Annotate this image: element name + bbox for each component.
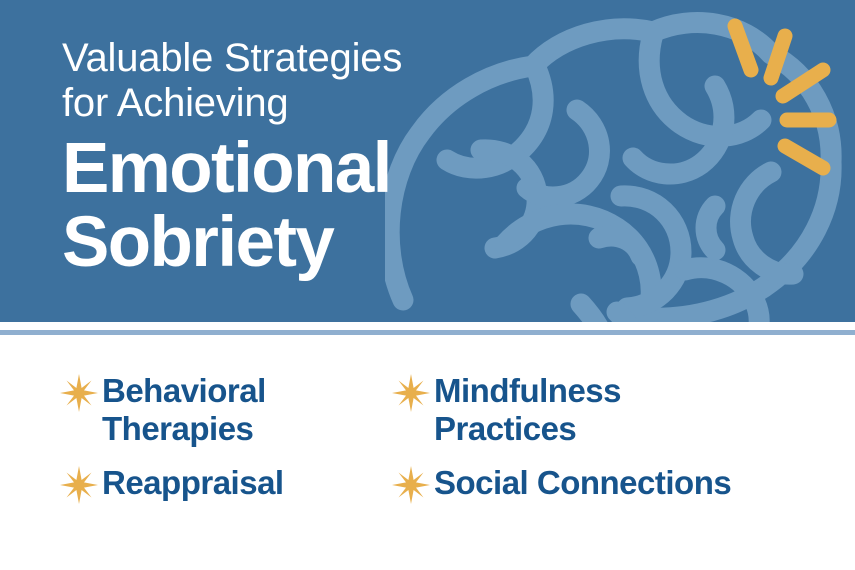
title-line-2: for Achieving <box>62 81 562 126</box>
title-line-3: Emotional <box>62 132 562 206</box>
list-item: Mindfulness Practices <box>392 372 621 448</box>
page-title: Valuable Strategies for Achieving Emotio… <box>62 36 562 280</box>
sparkle-star-icon <box>392 466 430 504</box>
ray-5 <box>785 146 823 168</box>
infographic-canvas: Valuable Strategies for Achieving Emotio… <box>0 0 855 570</box>
header-band: Valuable Strategies for Achieving Emotio… <box>0 0 855 322</box>
title-line-1: Valuable Strategies <box>62 36 562 81</box>
list-item-label: Social Connections <box>434 464 731 502</box>
sparkle-star-icon <box>60 466 98 504</box>
list-item: Behavioral Therapies <box>60 372 266 448</box>
ray-2 <box>771 36 785 78</box>
strategy-list: Behavioral Therapies Mindfulness Practic… <box>0 360 855 540</box>
list-item: Reappraisal <box>60 464 284 504</box>
title-line-4: Sobriety <box>62 206 562 280</box>
list-item-label: Mindfulness Practices <box>434 372 621 448</box>
list-item-label: Behavioral Therapies <box>102 372 266 448</box>
ray-3 <box>783 70 823 96</box>
radiating-rays <box>713 8 843 208</box>
list-item-label: Reappraisal <box>102 464 284 502</box>
divider <box>0 330 855 335</box>
sparkle-star-icon <box>60 374 98 412</box>
ray-1 <box>735 26 751 70</box>
sparkle-star-icon <box>392 374 430 412</box>
list-item: Social Connections <box>392 464 731 504</box>
